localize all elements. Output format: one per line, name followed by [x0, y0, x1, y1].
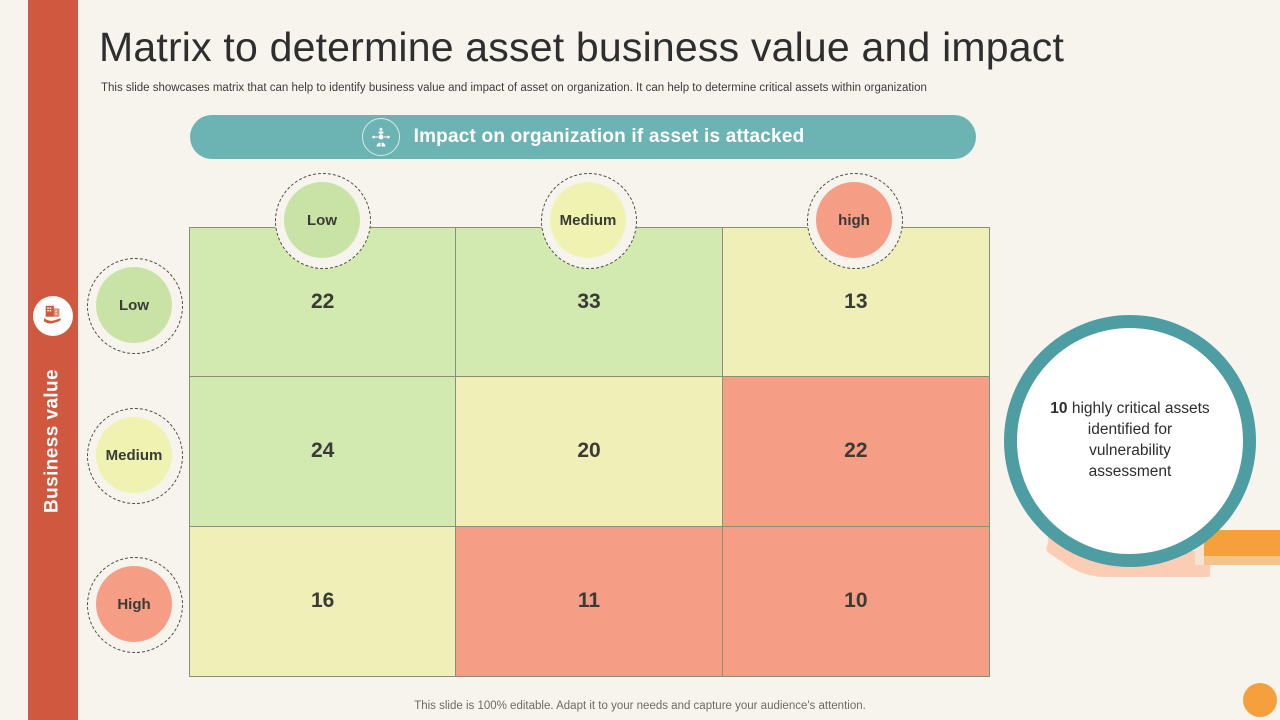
matrix-cell[interactable]: 16 [190, 527, 456, 676]
column-header-low[interactable]: Low [284, 182, 360, 258]
matrix-cell[interactable]: 24 [190, 377, 456, 526]
building-document-icon [42, 303, 64, 330]
matrix-cell[interactable]: 22 [723, 377, 989, 526]
page-subtitle: This slide showcases matrix that can hel… [101, 82, 927, 94]
sidebar-badge-icon [33, 296, 73, 336]
impact-axis-label: Impact on organization if asset is attac… [414, 126, 805, 148]
matrix-cell[interactable]: 20 [456, 377, 722, 526]
risk-matrix: 22 33 13 24 20 22 16 11 10 [189, 227, 990, 677]
slide-footer-note: This slide is 100% editable. Adapt it to… [0, 700, 1280, 712]
organization-person-icon [362, 118, 400, 156]
callout-highlight-number: 10 [1050, 400, 1067, 417]
callout-circle: 10 highly critical assets identified for… [1004, 315, 1256, 567]
page-title: Matrix to determine asset business value… [99, 24, 1064, 71]
sidebar-axis-label: Business value [42, 349, 64, 534]
callout-text: 10 highly critical assets identified for… [1047, 399, 1213, 483]
critical-assets-callout: 10 highly critical assets identified for… [1004, 315, 1256, 567]
row-header-low[interactable]: Low [96, 267, 172, 343]
callout-body-text: highly critical assets identified for vu… [1068, 400, 1210, 480]
column-header-medium[interactable]: Medium [550, 182, 626, 258]
column-header-high[interactable]: high [816, 182, 892, 258]
row-header-high[interactable]: High [96, 566, 172, 642]
row-header-medium[interactable]: Medium [96, 417, 172, 493]
impact-axis-banner: Impact on organization if asset is attac… [190, 115, 976, 159]
matrix-cell[interactable]: 11 [456, 527, 722, 676]
matrix-cell[interactable]: 10 [723, 527, 989, 676]
